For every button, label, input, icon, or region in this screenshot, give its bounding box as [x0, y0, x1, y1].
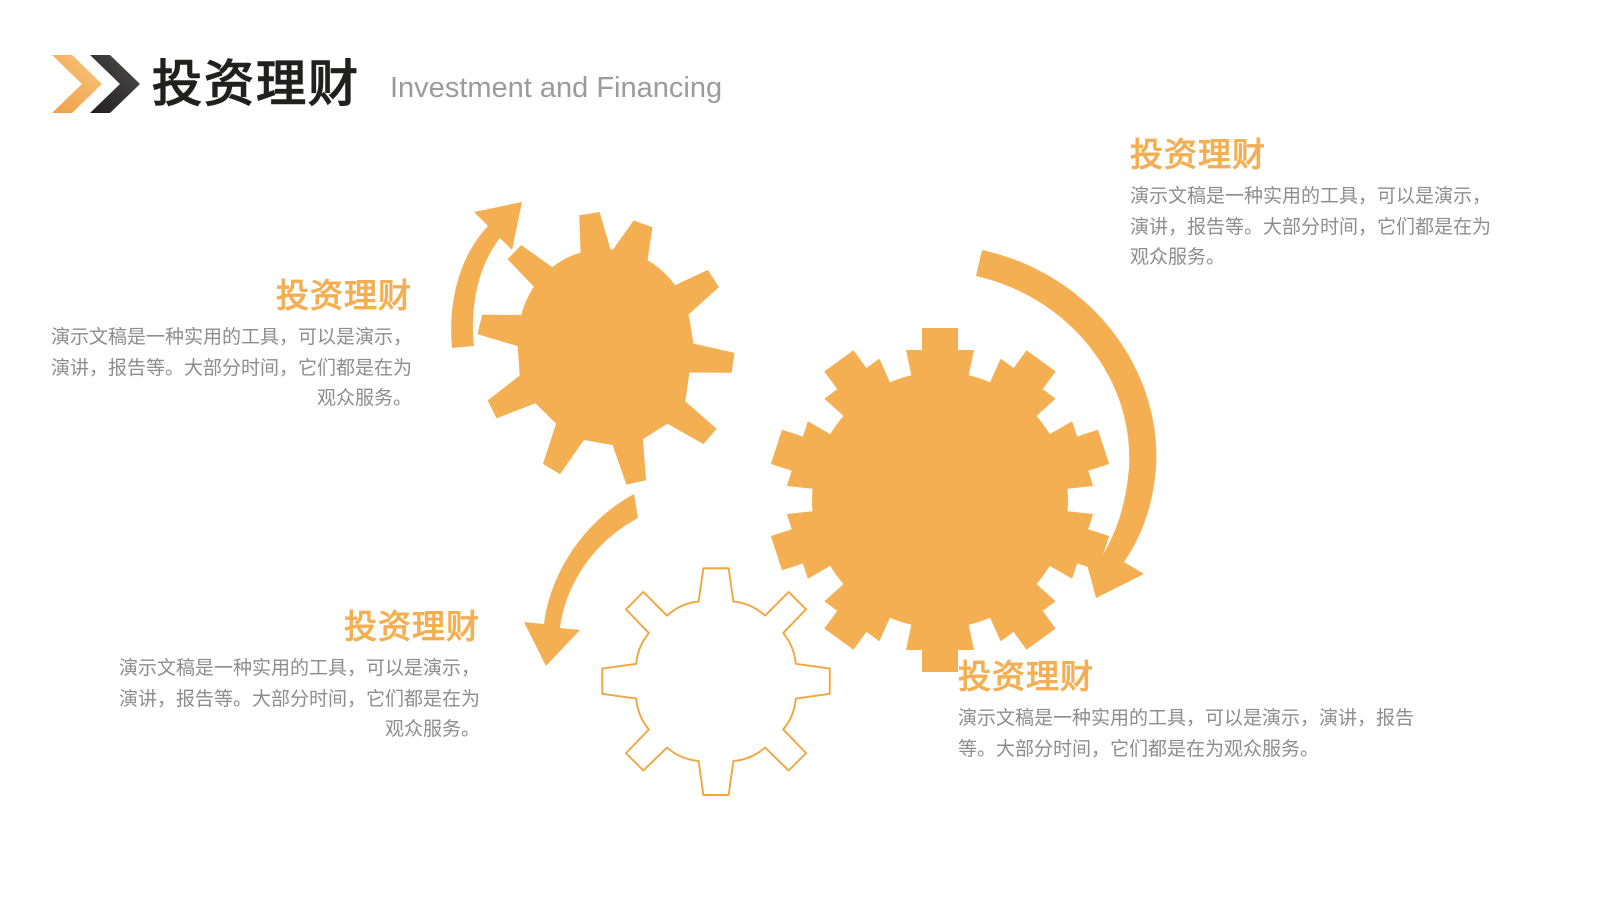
info-block-top-right: 投资理财 演示文稿是一种实用的工具，可以是演示，演讲，报告等。大部分时间，它们都…: [1130, 136, 1492, 274]
arrow-curved-down-left-icon: [524, 494, 638, 666]
page-title: 投资理财: [152, 59, 360, 109]
page-header: 投资理财 Investment and Financing: [50, 48, 722, 120]
info-block-heading: 投资理财: [118, 608, 480, 646]
info-block-body: 演示文稿是一种实用的工具，可以是演示，演讲，报告等。大部分时间，它们都是在为观众…: [958, 704, 1444, 766]
info-block-body: 演示文稿是一种实用的工具，可以是演示，演讲，报告等。大部分时间，它们都是在为观众…: [118, 654, 480, 746]
gear-small-filled-icon: [449, 200, 761, 509]
double-chevron-icon: [50, 53, 144, 115]
info-block-heading: 投资理财: [958, 658, 1444, 696]
info-block-heading: 投资理财: [48, 277, 412, 315]
info-block-top-left: 投资理财 演示文稿是一种实用的工具，可以是演示，演讲，报告等。大部分时间，它们都…: [48, 277, 412, 415]
info-block-bottom-left: 投资理财 演示文稿是一种实用的工具，可以是演示，演讲，报告等。大部分时间，它们都…: [118, 608, 480, 746]
info-block-bottom-right: 投资理财 演示文稿是一种实用的工具，可以是演示，演讲，报告等。大部分时间，它们都…: [958, 658, 1444, 765]
info-block-heading: 投资理财: [1130, 136, 1492, 174]
gear-outline-icon: [602, 568, 830, 795]
info-block-body: 演示文稿是一种实用的工具，可以是演示，演讲，报告等。大部分时间，它们都是在为观众…: [1130, 182, 1492, 274]
page-subtitle: Investment and Financing: [390, 66, 722, 103]
info-block-body: 演示文稿是一种实用的工具，可以是演示，演讲，报告等。大部分时间，它们都是在为观众…: [48, 323, 412, 415]
gear-large-filled-icon: [771, 328, 1109, 672]
